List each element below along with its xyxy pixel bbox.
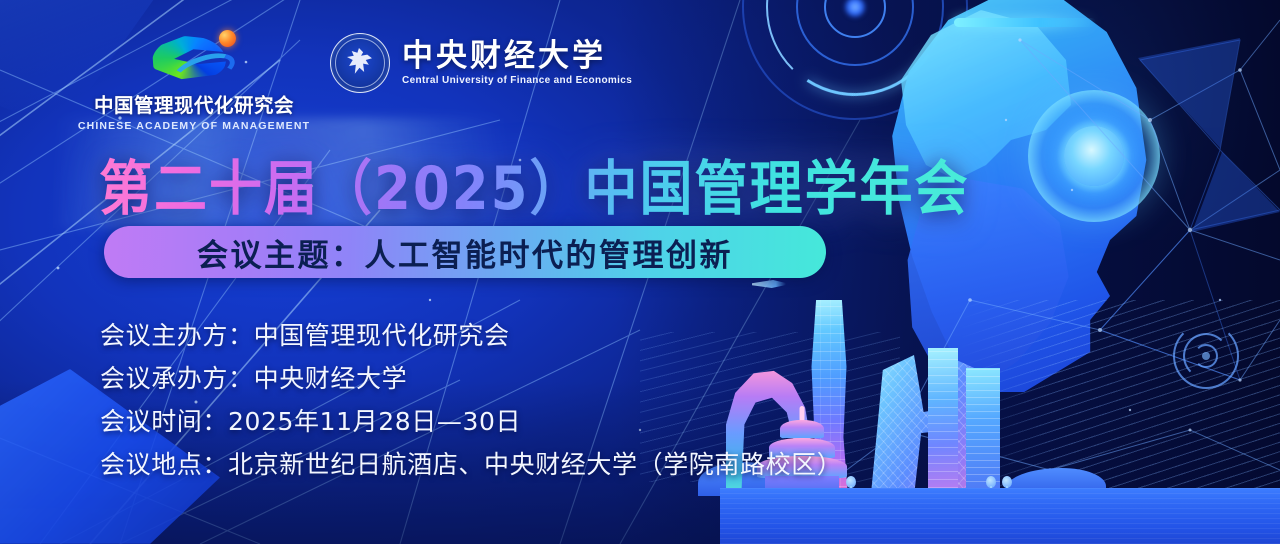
cam-emblem-icon [148, 30, 240, 86]
conference-banner: 中国管理现代化研究会 CHINESE ACADEMY OF MANAGEMENT… [0, 0, 1280, 544]
detail-date: 会议时间：2025年11月28日—30日 [100, 400, 842, 443]
logo-row: 中国管理现代化研究会 CHINESE ACADEMY OF MANAGEMENT… [96, 30, 632, 132]
detail-organizer: 会议主办方：中国管理现代化研究会 [100, 314, 842, 357]
detail-venue: 会议地点：北京新世纪日航酒店、中央财经大学（学院南路校区） [100, 443, 842, 486]
detail-list: 会议主办方：中国管理现代化研究会 会议承办方：中央财经大学 会议时间：2025年… [100, 314, 842, 486]
banner-content: 中国管理现代化研究会 CHINESE ACADEMY OF MANAGEMENT… [0, 0, 1280, 544]
theme-badge-label: 会议主题：人工智能时代的管理创新 [197, 230, 733, 275]
university-name-en: Central University of Finance and Econom… [402, 75, 632, 86]
detail-host: 会议承办方：中央财经大学 [100, 357, 842, 400]
organizer-logo: 中国管理现代化研究会 CHINESE ACADEMY OF MANAGEMENT [96, 30, 292, 132]
page-title: 第二十届（2025）中国管理学年会 [99, 142, 970, 227]
theme-badge: 会议主题：人工智能时代的管理创新 [104, 226, 826, 278]
organizer-name-cn: 中国管理现代化研究会 [94, 89, 294, 118]
university-name-cn: 中央财经大学 [402, 40, 632, 73]
organizer-name-en: CHINESE ACADEMY OF MANAGEMENT [78, 120, 310, 132]
university-logo: 中央财经大学 Central University of Finance and… [330, 30, 632, 93]
university-seal-icon [330, 33, 390, 93]
